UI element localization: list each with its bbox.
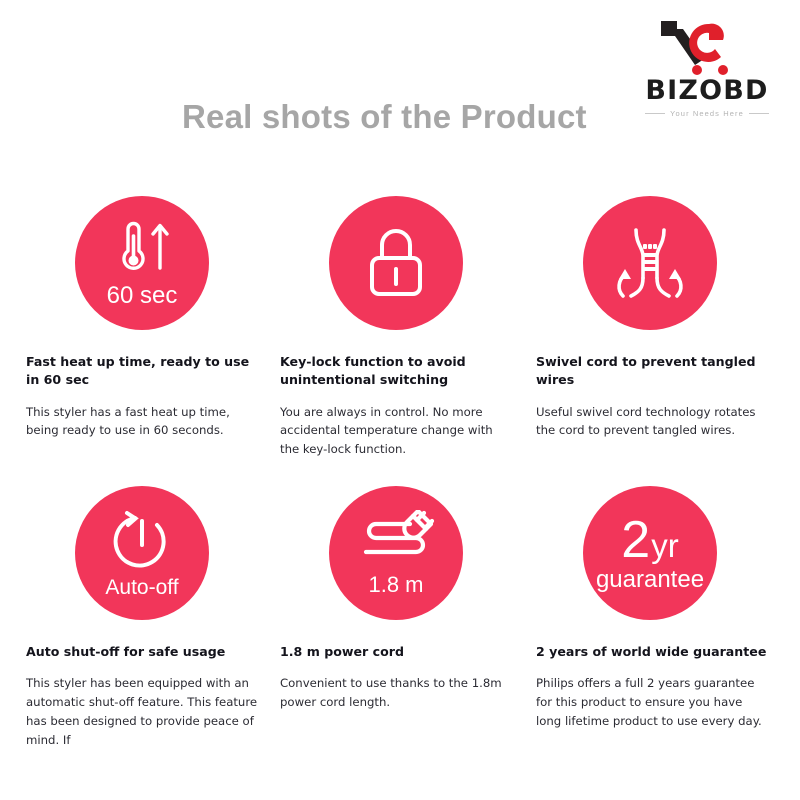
feature-badge: 1.8 m — [329, 486, 463, 620]
guarantee-number: 2 — [621, 514, 649, 566]
feature-title: Fast heat up time, ready to use in 60 se… — [26, 353, 260, 390]
badge-caption: 60 sec — [107, 284, 178, 308]
feature-card-key-lock: Key-lock function to avoid unintentional… — [274, 196, 528, 486]
brand-logo: BIZOBD Your Needs Here — [632, 14, 782, 118]
swivel-cord-icon — [609, 222, 691, 304]
feature-card-power-cord: 1.8 m 1.8 m power cord Convenient to use… — [274, 486, 528, 776]
feature-title: Swivel cord to prevent tangled wires — [536, 353, 768, 390]
guarantee-unit: yr — [651, 529, 679, 562]
feature-body: Useful swivel cord technology rotates th… — [536, 403, 768, 441]
guarantee-word: guarantee — [596, 568, 704, 592]
shopping-cart-icon — [647, 14, 767, 76]
power-cord-plug-icon — [354, 510, 438, 566]
thermometer-up-arrow-icon — [106, 218, 178, 278]
feature-body: This styler has a fast heat up time, bei… — [26, 403, 260, 441]
feature-card-swivel-cord: Swivel cord to prevent tangled wires Use… — [528, 196, 782, 486]
feature-body: This styler has been equipped with an au… — [26, 674, 260, 750]
badge-wrap: 60 sec — [20, 196, 260, 346]
badge-wrap — [274, 196, 514, 346]
tagline-rule-right — [749, 113, 769, 114]
feature-badge — [329, 196, 463, 330]
feature-card-guarantee: 2 yr guarantee 2 years of world wide gua… — [528, 486, 782, 776]
feature-badge: 60 sec — [75, 196, 209, 330]
feature-badge: Auto-off — [75, 486, 209, 620]
power-auto-off-icon — [109, 509, 175, 571]
feature-title: 1.8 m power cord — [280, 643, 514, 661]
feature-card-auto-shut-off: Auto-off Auto shut-off for safe usage Th… — [20, 486, 274, 776]
badge-wrap: Auto-off — [20, 486, 260, 636]
badge-caption: 1.8 m — [368, 574, 423, 596]
feature-title: Key-lock function to avoid unintentional… — [280, 353, 514, 390]
feature-badge — [583, 196, 717, 330]
badge-wrap: 1.8 m — [274, 486, 514, 636]
badge-caption: Auto-off — [105, 577, 178, 598]
tagline-rule-left — [645, 113, 665, 114]
feature-title: 2 years of world wide guarantee — [536, 643, 768, 661]
feature-grid: 60 sec Fast heat up time, ready to use i… — [20, 196, 782, 776]
brand-name: BIZOBD — [632, 77, 782, 104]
padlock-icon — [359, 223, 433, 303]
feature-body: Convenient to use thanks to the 1.8m pow… — [280, 674, 514, 712]
feature-title: Auto shut-off for safe usage — [26, 643, 260, 661]
brand-tagline: Your Needs Here — [670, 109, 744, 118]
badge-wrap — [528, 196, 768, 346]
badge-wrap: 2 yr guarantee — [528, 486, 768, 636]
feature-body: You are always in control. No more accid… — [280, 403, 514, 460]
page-title: Real shots of the Product — [182, 98, 587, 136]
brand-tagline-row: Your Needs Here — [632, 109, 782, 118]
feature-body: Philips offers a full 2 years guarantee … — [536, 674, 768, 731]
guarantee-text-icon: 2 yr — [621, 514, 678, 566]
feature-card-fast-heat-up: 60 sec Fast heat up time, ready to use i… — [20, 196, 274, 486]
feature-badge: 2 yr guarantee — [583, 486, 717, 620]
